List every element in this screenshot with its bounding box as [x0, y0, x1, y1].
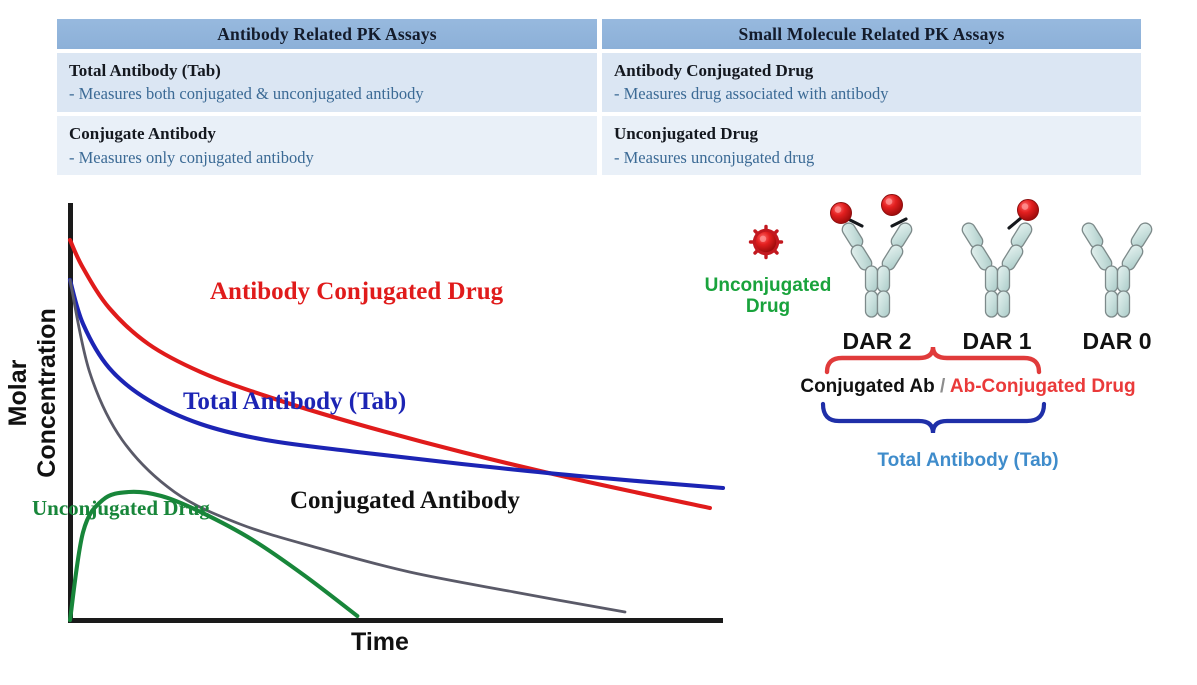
pk-assay-table: Antibody Related PK Assays Small Molecul… — [57, 19, 1141, 197]
curve-total-antibody-tab — [70, 280, 723, 488]
label-separator: / — [935, 376, 950, 397]
cell-title: Unconjugated Drug — [614, 123, 1141, 145]
cell-subtitle: - Measures unconjugated drug — [614, 147, 1141, 169]
unconjugated-drug-legend-line1: Unconjugated — [705, 275, 832, 296]
pk-concentration-chart: Molar Concentration Time Antibody Conjug… — [0, 196, 740, 666]
header-small-molecule-bg: Small Molecule Related PK Assays — [602, 19, 1141, 49]
header-small-molecule-label: Small Molecule Related PK Assays — [739, 24, 1005, 45]
antibody-dar-1 — [960, 200, 1039, 318]
curve-label-total-antibody: Total Antibody (Tab) — [183, 388, 406, 416]
cell-antibody-conjugated-drug: Antibody Conjugated Drug - Measures drug… — [602, 53, 1141, 112]
dar-0-label: DAR 0 — [1062, 328, 1172, 355]
cell-unconjugated-drug: Unconjugated Drug - Measures unconjugate… — [602, 116, 1141, 175]
diagram-canvas: Antibody Related PK Assays Small Molecul… — [0, 0, 1197, 685]
antibody-dar-0 — [1080, 221, 1154, 317]
header-antibody-bg: Antibody Related PK Assays — [57, 19, 597, 49]
total-antibody-bracket-label: Total Antibody (Tab) — [778, 450, 1158, 472]
drug-payload-icon — [1018, 200, 1039, 221]
cell-title: Antibody Conjugated Drug — [614, 60, 1141, 82]
table-row: Total Antibody (Tab) - Measures both con… — [57, 53, 1141, 112]
total-antibody-bracket — [823, 404, 1044, 433]
cell-unconjugated-drug-body: Unconjugated Drug - Measures unconjugate… — [602, 116, 1141, 175]
header-cell-antibody: Antibody Related PK Assays — [57, 19, 597, 49]
ab-conjugated-drug-label: Ab-Conjugated Drug — [950, 376, 1136, 397]
curve-conjugated-antibody — [70, 280, 625, 612]
table-header-row: Antibody Related PK Assays Small Molecul… — [57, 19, 1141, 49]
chart-curves — [0, 196, 740, 666]
unconjugated-drug-legend-line2: Drug — [746, 296, 790, 317]
conjugated-ab-label-group: Conjugated Ab / Ab-Conjugated Drug — [758, 376, 1178, 398]
drug-payload-icon — [882, 195, 903, 216]
dar-schematic-panel: Unconjugated Drug DAR 2 DAR 1 DAR 0 Conj… — [700, 200, 1197, 500]
table-row: Conjugate Antibody - Measures only conju… — [57, 116, 1141, 175]
cell-total-antibody-body: Total Antibody (Tab) - Measures both con… — [57, 53, 597, 112]
unconjugated-drug-legend: Unconjugated Drug — [702, 275, 834, 318]
cell-conjugate-antibody-body: Conjugate Antibody - Measures only conju… — [57, 116, 597, 175]
unconjugated-drug-icon — [751, 227, 782, 258]
curve-label-conjugated-antibody: Conjugated Antibody — [290, 487, 520, 515]
cell-total-antibody: Total Antibody (Tab) - Measures both con… — [57, 53, 597, 112]
cell-conjugate-antibody: Conjugate Antibody - Measures only conju… — [57, 116, 597, 175]
curve-label-unconjugated-drug: Unconjugated Drug — [32, 496, 210, 521]
cell-title: Conjugate Antibody — [69, 123, 597, 145]
drug-payload-icon — [831, 203, 852, 224]
cell-subtitle: - Measures only conjugated antibody — [69, 147, 597, 169]
antibody-dar-2 — [831, 195, 915, 318]
cell-subtitle: - Measures drug associated with antibody — [614, 83, 1141, 105]
header-cell-small-molecule: Small Molecule Related PK Assays — [602, 19, 1141, 49]
curve-label-antibody-conjugated-drug: Antibody Conjugated Drug — [210, 278, 503, 306]
conjugated-ab-label: Conjugated Ab — [800, 376, 934, 397]
header-antibody-label: Antibody Related PK Assays — [217, 24, 437, 45]
cell-antibody-conjugated-drug-body: Antibody Conjugated Drug - Measures drug… — [602, 53, 1141, 112]
dar-1-label: DAR 1 — [942, 328, 1052, 355]
dar-2-label: DAR 2 — [822, 328, 932, 355]
cell-subtitle: - Measures both conjugated & unconjugate… — [69, 83, 597, 105]
cell-title: Total Antibody (Tab) — [69, 60, 597, 82]
